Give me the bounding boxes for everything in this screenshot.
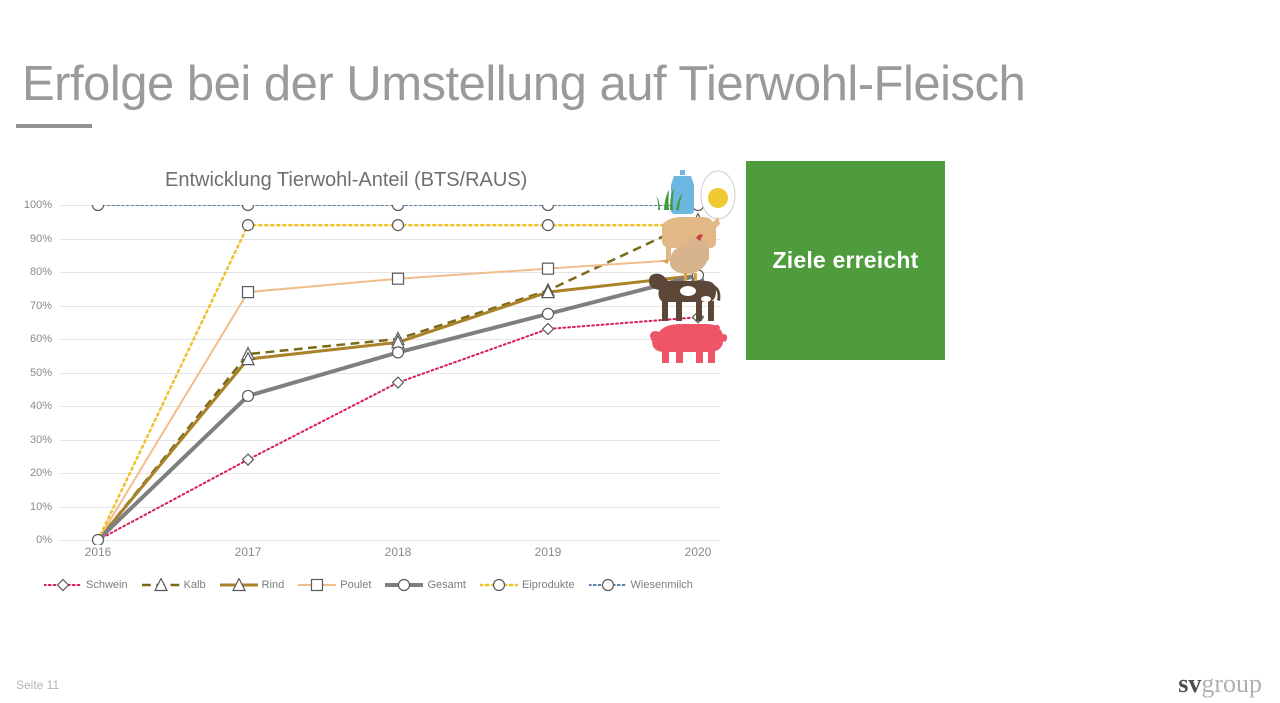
- chart-data-point: [393, 347, 404, 358]
- chart-data-point: [243, 390, 254, 401]
- chart-data-point: [393, 377, 404, 388]
- chart-container: Entwicklung Tierwohl-Anteil (BTS/RAUS) 0…: [0, 155, 740, 600]
- y-axis-tick-label: 0%: [8, 534, 52, 546]
- y-axis-tick-label: 80%: [8, 266, 52, 278]
- chart-plot-area: 0%10%20%30%40%50%60%70%80%90%100% 201620…: [60, 205, 720, 540]
- legend-item[interactable]: Poulet: [298, 578, 371, 592]
- chart-data-point: [543, 308, 554, 319]
- legend-label: Rind: [262, 579, 285, 591]
- legend-swatch: [44, 578, 82, 592]
- legend-item[interactable]: Wiesenmilch: [589, 578, 693, 592]
- x-axis-tick-label: 2016: [58, 545, 138, 559]
- chart-series-layer: [60, 205, 720, 545]
- y-axis-tick-label: 20%: [8, 467, 52, 479]
- goal-achieved-label: Ziele erreicht: [773, 247, 919, 274]
- chart-legend: SchweinKalbRindPouletGesamtEiprodukteWie…: [44, 575, 704, 595]
- sv-group-logo: svgroup: [1178, 671, 1262, 697]
- x-axis-tick-label: 2019: [508, 545, 588, 559]
- logo-sv-text: sv: [1178, 669, 1201, 698]
- y-axis-tick-label: 100%: [8, 199, 52, 211]
- legend-swatch: [220, 578, 258, 592]
- y-axis-tick-label: 40%: [8, 400, 52, 412]
- logo-group-text: group: [1201, 669, 1262, 698]
- y-axis-tick-label: 30%: [8, 434, 52, 446]
- y-axis-tick-label: 70%: [8, 300, 52, 312]
- goal-achieved-callout: Ziele erreicht: [746, 161, 945, 360]
- chart-series-line: [98, 259, 698, 540]
- y-axis-tick-label: 10%: [8, 501, 52, 513]
- chart-data-point: [243, 287, 254, 298]
- legend-swatch: [298, 578, 336, 592]
- chart-data-point: [399, 580, 410, 591]
- chart-data-point: [602, 580, 613, 591]
- pig-icon: [650, 324, 727, 363]
- chart-data-point: [243, 454, 254, 465]
- legend-item[interactable]: Gesamt: [385, 578, 466, 592]
- legend-swatch: [142, 578, 180, 592]
- x-axis-tick-label: 2017: [208, 545, 288, 559]
- chart-series-line: [98, 275, 698, 540]
- legend-label: Wiesenmilch: [631, 579, 693, 591]
- legend-swatch: [480, 578, 518, 592]
- chart-data-point: [543, 263, 554, 274]
- chart-data-point: [393, 273, 404, 284]
- chart-data-point: [393, 220, 404, 231]
- chart-data-point: [393, 205, 404, 211]
- legend-label: Schwein: [86, 579, 128, 591]
- chart-data-point: [493, 580, 504, 591]
- legend-item[interactable]: Rind: [220, 578, 285, 592]
- legend-label: Gesamt: [427, 579, 466, 591]
- legend-swatch: [589, 578, 627, 592]
- legend-label: Poulet: [340, 579, 371, 591]
- chart-data-point: [543, 205, 554, 211]
- legend-label: Kalb: [184, 579, 206, 591]
- y-axis-tick-label: 60%: [8, 333, 52, 345]
- chart-series-line: [98, 275, 698, 540]
- chart-data-point: [312, 580, 323, 591]
- legend-swatch: [385, 578, 423, 592]
- x-axis-tick-label: 2018: [358, 545, 438, 559]
- chart-data-point: [543, 220, 554, 231]
- page-number: Seite 11: [16, 678, 59, 692]
- y-axis-tick-label: 90%: [8, 233, 52, 245]
- x-axis-tick-label: 2020: [658, 545, 738, 559]
- chart-data-point: [93, 535, 104, 546]
- chart-data-point: [243, 205, 254, 211]
- chart-title: Entwicklung Tierwohl-Anteil (BTS/RAUS): [165, 169, 595, 192]
- milk-can-icon: [671, 170, 694, 214]
- chart-data-point: [58, 580, 69, 591]
- legend-item[interactable]: Eiprodukte: [480, 578, 575, 592]
- legend-item[interactable]: Schwein: [44, 578, 128, 592]
- legend-label: Eiprodukte: [522, 579, 575, 591]
- egg-icon: [701, 171, 735, 219]
- page-title: Erfolge bei der Umstellung auf Tierwohl-…: [22, 55, 1025, 113]
- chart-data-point: [93, 205, 104, 211]
- animal-artwork-group: [640, 163, 750, 368]
- legend-item[interactable]: Kalb: [142, 578, 206, 592]
- title-underline-rule: [16, 124, 92, 128]
- chart-data-point: [543, 323, 554, 334]
- chart-data-point: [243, 220, 254, 231]
- y-axis-tick-label: 50%: [8, 367, 52, 379]
